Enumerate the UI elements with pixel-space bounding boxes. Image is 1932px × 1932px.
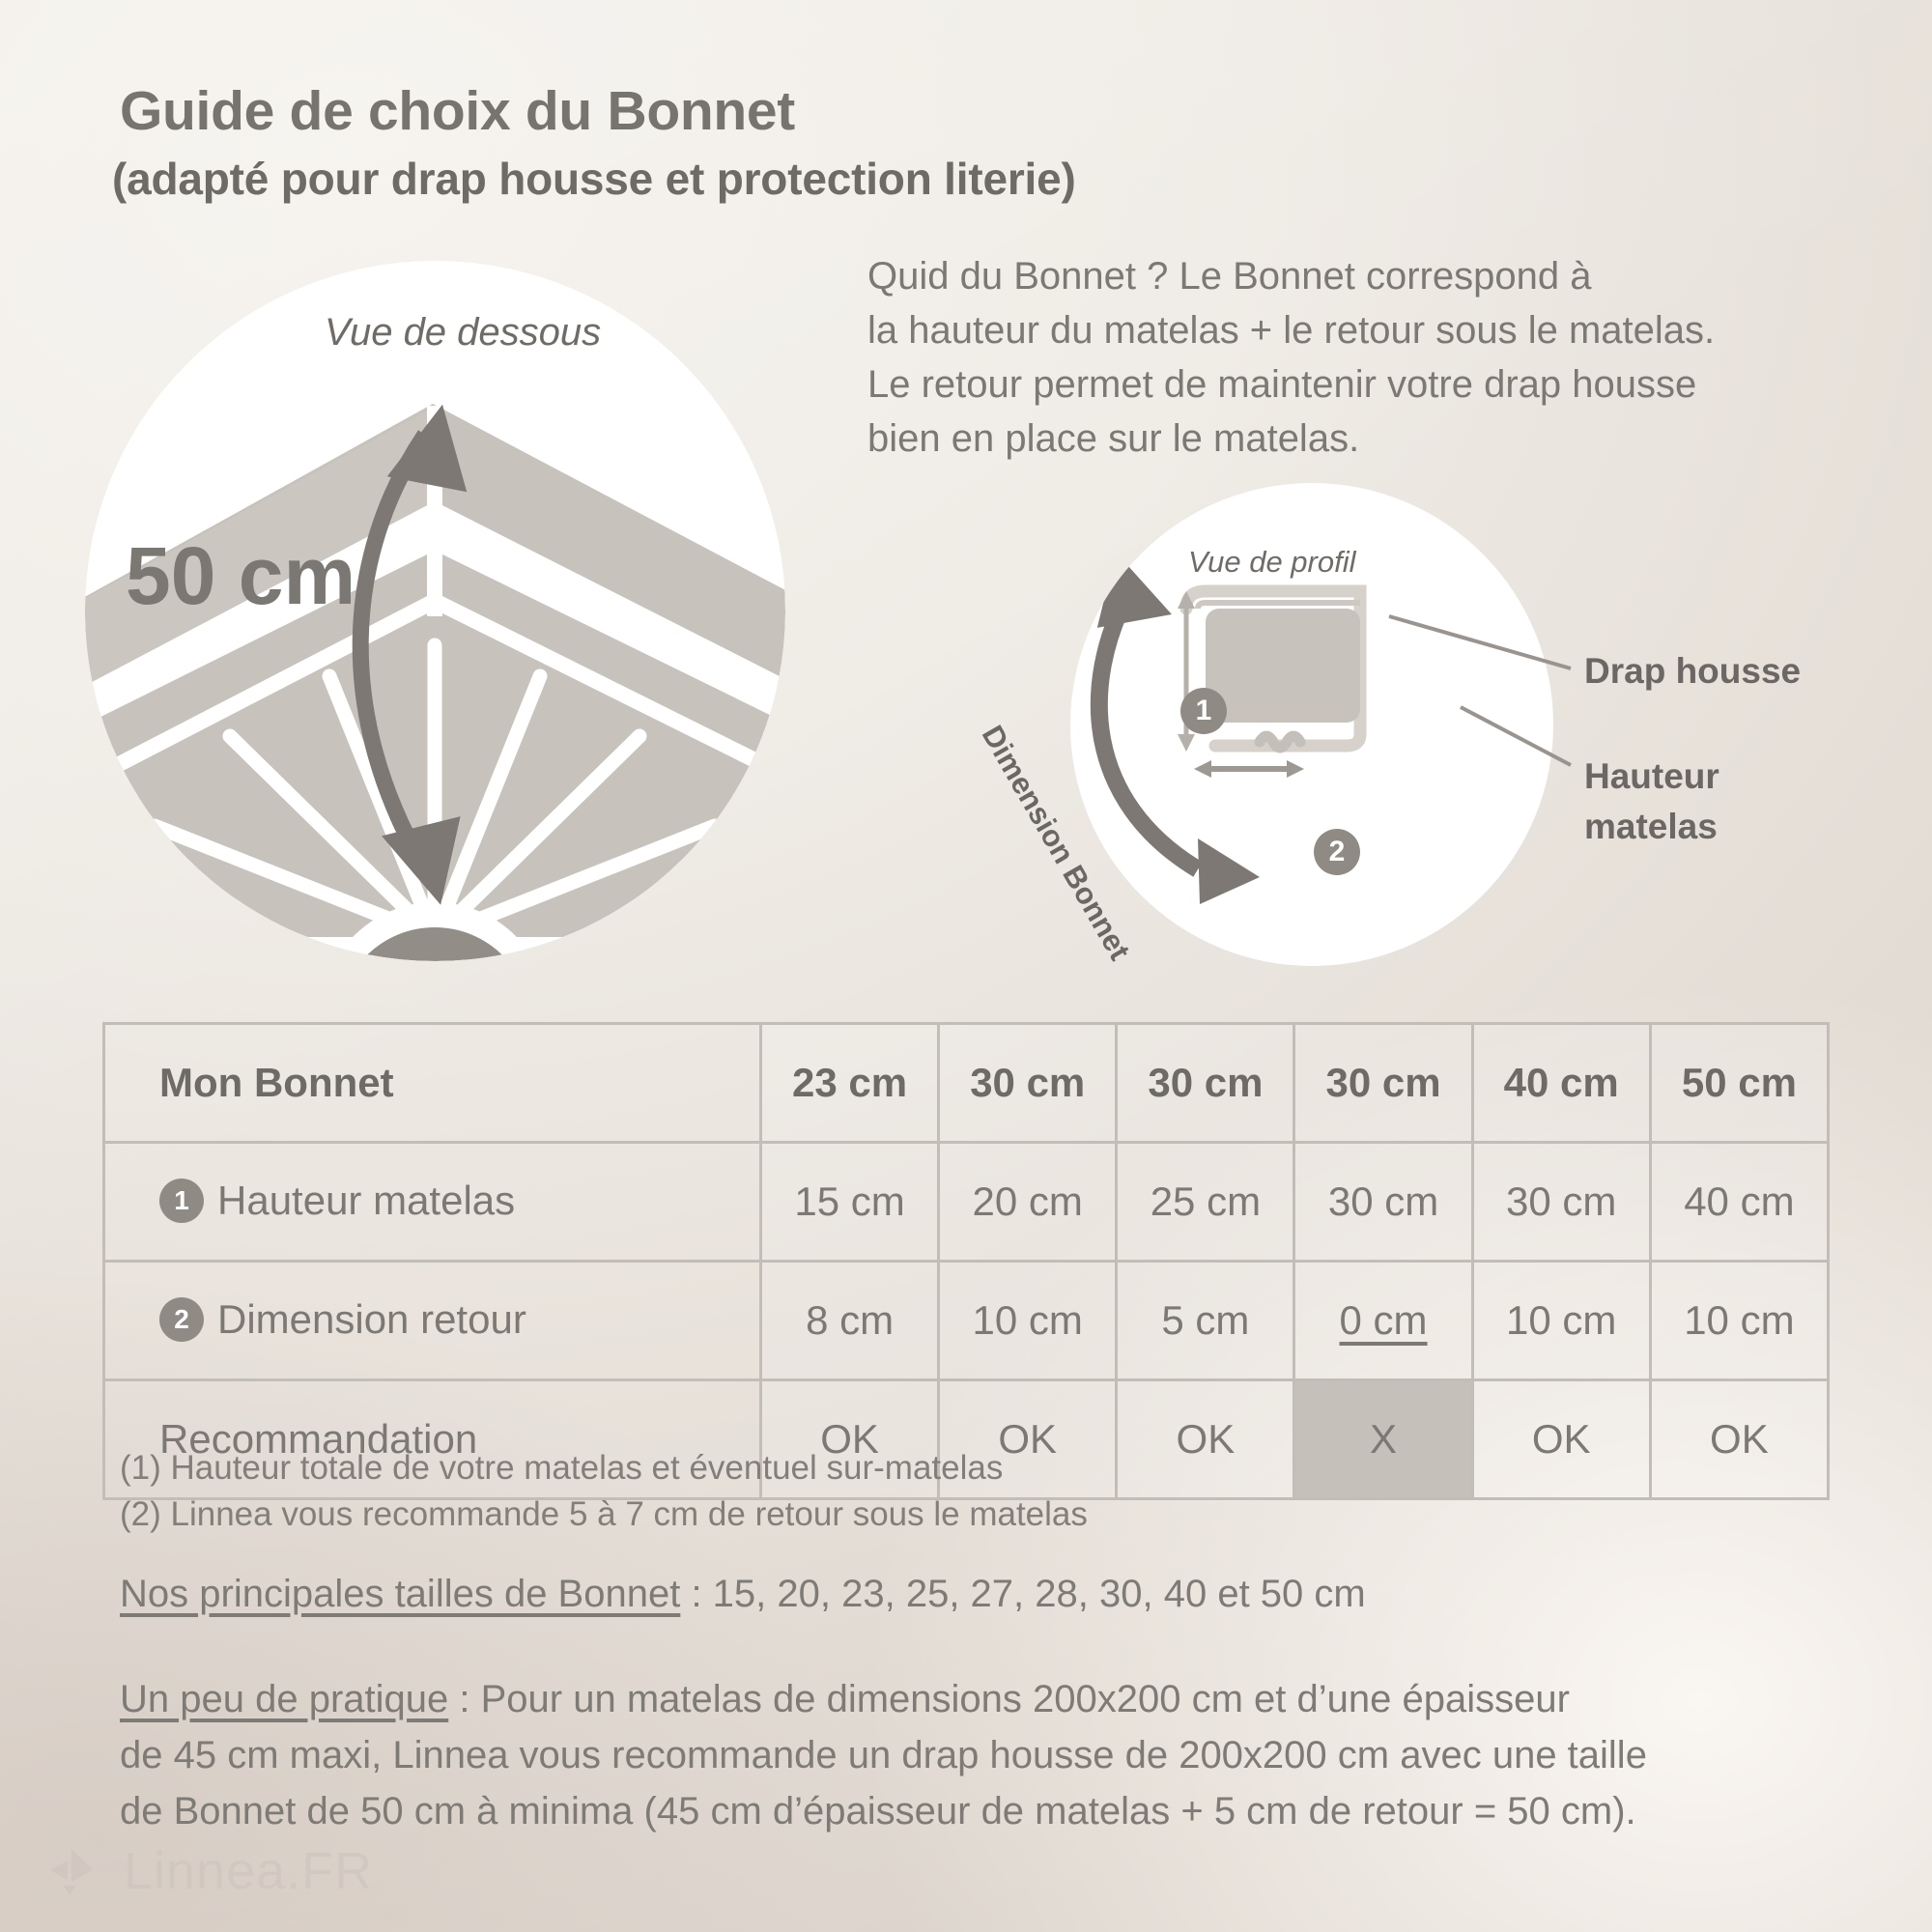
table-header-cell-4: 30 cm [1294,1024,1472,1143]
table-header-label: Mon Bonnet [104,1024,761,1143]
pratique-line-1-text: : Pour un matelas de dimensions 200x200 … [448,1678,1570,1720]
table-header-cell-2: 30 cm [939,1024,1117,1143]
label-drap-housse: Drap housse [1584,651,1801,692]
table-header-row: Mon Bonnet 23 cm 30 cm 30 cm 30 cm 40 cm… [104,1024,1829,1143]
page-title: Guide de choix du Bonnet [120,79,795,143]
cell-hauteur-5: 30 cm [1472,1143,1650,1262]
cell-hauteur-2: 20 cm [939,1143,1117,1262]
tailles-values: : 15, 20, 23, 25, 27, 28, 30, 40 et 50 c… [680,1573,1365,1615]
profile-badge-2: 2 [1314,829,1360,875]
logo-text: Linnea.FR [124,1841,373,1901]
label-hauteur-line-2: matelas [1584,802,1719,852]
pratique-label: Un peu de pratique [120,1678,448,1720]
profile-badge-1: 1 [1180,688,1227,734]
cell-retour-3: 5 cm [1117,1262,1294,1380]
pratique-line-1: Un peu de pratique : Pour un matelas de … [120,1671,1647,1727]
pratique-line-3: de Bonnet de 50 cm à minima (45 cm d’épa… [120,1783,1647,1839]
profile-view-caption: Vue de profil [1188,545,1356,580]
intro-line-2: la hauteur du matelas + le retour sous l… [867,303,1843,357]
cell-hauteur-6: 40 cm [1650,1143,1828,1262]
linnea-logo[interactable]: Linnea.FR [43,1841,373,1901]
table-header-cell-5: 40 cm [1472,1024,1650,1143]
profile-leader-lines [1381,599,1613,821]
table-row: 1Hauteur matelas 15 cm 20 cm 25 cm 30 cm… [104,1143,1829,1262]
cell-retour-4: 0 cm [1294,1262,1472,1380]
bottom-view-caption: Vue de dessous [325,311,601,355]
cell-retour-5: 10 cm [1472,1262,1650,1380]
cell-hauteur-4: 30 cm [1294,1143,1472,1262]
cell-reco-5: OK [1472,1380,1650,1499]
cell-reco-4-warning: X [1294,1380,1472,1499]
cell-retour-1: 8 cm [761,1262,939,1380]
cell-reco-3: OK [1117,1380,1294,1499]
label-hauteur-line-1: Hauteur [1584,752,1719,802]
table-header-cell-1: 23 cm [761,1024,939,1143]
label-hauteur-matelas: Hauteur matelas [1584,752,1719,852]
row-label-text: Hauteur matelas [217,1178,515,1223]
intro-line-3: Le retour permet de maintenir votre drap… [867,357,1843,412]
tailles-line: Nos principales tailles de Bonnet : 15, … [120,1573,1366,1616]
cell-hauteur-1: 15 cm [761,1143,939,1262]
footnote-2: (2) Linnea vous recommande 5 à 7 cm de r… [120,1492,1088,1538]
row-label-hauteur-matelas: 1Hauteur matelas [104,1143,761,1262]
bonnet-size-callout: 50 cm [126,529,355,623]
intro-line-1: Quid du Bonnet ? Le Bonnet correspond à [867,249,1843,303]
tailles-label: Nos principales tailles de Bonnet [120,1573,680,1615]
footnote-1: (1) Hauteur totale de votre matelas et é… [120,1445,1003,1492]
pratique-paragraph: Un peu de pratique : Pour un matelas de … [120,1671,1647,1839]
cell-retour-4-value: 0 cm [1340,1297,1428,1343]
infographic-page: Guide de choix du Bonnet (adapté pour dr… [0,0,1932,1932]
table-row: 2Dimension retour 8 cm 10 cm 5 cm 0 cm 1… [104,1262,1829,1380]
intro-paragraph: Quid du Bonnet ? Le Bonnet correspond à … [867,249,1843,466]
bonnet-size-table: Mon Bonnet 23 cm 30 cm 30 cm 30 cm 40 cm… [102,1022,1830,1500]
diamond-arrow-icon [43,1841,102,1901]
table-header-cell-6: 50 cm [1650,1024,1828,1143]
cell-retour-6: 10 cm [1650,1262,1828,1380]
row-badge-2: 2 [159,1297,204,1342]
page-subtitle: (adapté pour drap housse et protection l… [112,153,1076,205]
cell-retour-2: 10 cm [939,1262,1117,1380]
row-label-dimension-retour: 2Dimension retour [104,1262,761,1380]
cell-reco-6: OK [1650,1380,1828,1499]
row-badge-1: 1 [159,1179,204,1223]
intro-line-4: bien en place sur le matelas. [867,412,1843,466]
pratique-line-2: de 45 cm maxi, Linnea vous recommande un… [120,1727,1647,1783]
table-header-cell-3: 30 cm [1117,1024,1294,1143]
cell-hauteur-3: 25 cm [1117,1143,1294,1262]
row-label-text: Dimension retour [217,1296,526,1342]
